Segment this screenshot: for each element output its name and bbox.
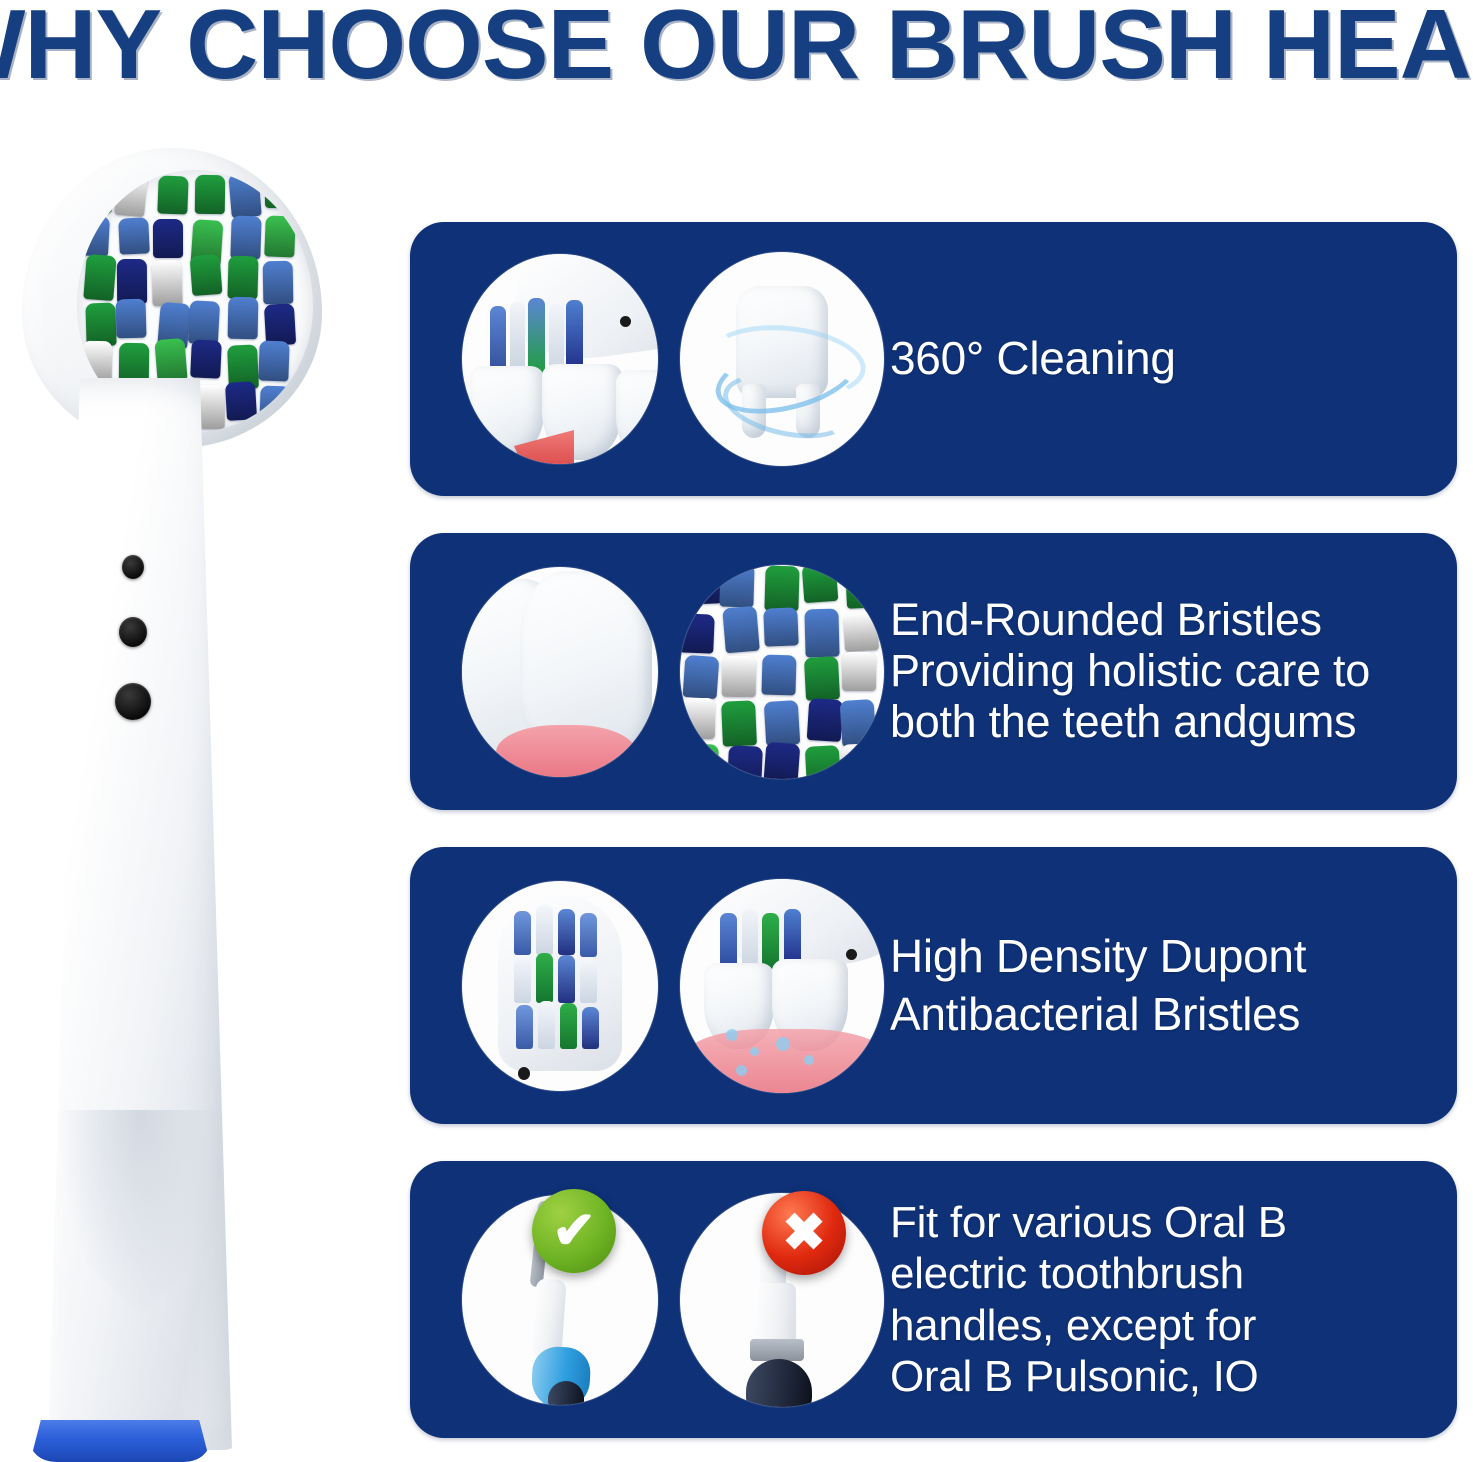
bristle-tuft xyxy=(115,298,146,337)
card-line: 360° Cleaning xyxy=(890,333,1431,385)
bristle-tuft xyxy=(259,386,290,426)
bristle-tuft xyxy=(118,218,150,255)
bristle-tuft xyxy=(686,565,722,605)
card-media-group xyxy=(410,847,890,1124)
bristle-tuft xyxy=(682,654,719,698)
bristle-tuft xyxy=(153,219,183,258)
bristle-tuft xyxy=(805,745,841,778)
handle-dot-large xyxy=(115,683,151,720)
handle-dot-small xyxy=(122,555,144,579)
card-line: End-Rounded Bristles xyxy=(890,595,1431,646)
card-line: electric toothbrush xyxy=(890,1248,1431,1299)
card-line: Fit for various Oral B xyxy=(890,1197,1431,1248)
feature-card-compatibility[interactable]: ✔ ✖ Fit for various Oral B electric toot… xyxy=(410,1161,1457,1438)
feature-card-360-cleaning[interactable]: 360° Cleaning xyxy=(410,222,1457,496)
bristle-tuft xyxy=(804,609,839,657)
card-media-group xyxy=(410,533,890,810)
bristle-tuft xyxy=(842,612,878,652)
card-line: Oral B Pulsonic, IO xyxy=(890,1351,1431,1402)
bristle-tuft xyxy=(151,260,182,306)
card-text-end-rounded-bristles: End-Rounded Bristles Providing holistic … xyxy=(890,595,1457,748)
handle-base-ring xyxy=(30,1420,210,1462)
bristle-tuft xyxy=(263,303,295,345)
bristle-tuft xyxy=(195,175,225,214)
brush-on-teeth-photo xyxy=(462,254,658,464)
card-line: Antibacterial Bristles xyxy=(890,986,1431,1044)
bristle-tuft xyxy=(86,303,117,347)
bristle-tuft xyxy=(763,607,799,647)
bristle-tuft xyxy=(681,698,715,739)
bristle-tuft xyxy=(258,340,289,381)
bristle-tuft xyxy=(683,744,719,779)
bristle-tuft xyxy=(230,216,261,260)
card-line: handles, except for xyxy=(890,1300,1431,1351)
bristle-tuft xyxy=(264,215,296,257)
bristle-tuft xyxy=(263,261,294,305)
bristle-tuft xyxy=(722,656,756,697)
card-line: both the teeth andgums xyxy=(890,697,1431,748)
brush-cleaning-teeth-photo xyxy=(680,879,884,1093)
bristle-tuft xyxy=(842,652,876,691)
feature-card-list: 360° Cleaning End-Rounded Bristles Provi… xyxy=(410,222,1457,1438)
bristle-tuft xyxy=(83,254,116,301)
feature-card-end-rounded-bristles[interactable]: End-Rounded Bristles Providing holistic … xyxy=(410,533,1457,810)
tooth-360-swirl-photo xyxy=(680,252,884,466)
bristle-tuft xyxy=(807,698,844,742)
bristle-tuft xyxy=(720,565,755,608)
product-image xyxy=(0,130,400,1462)
bristle-tuft xyxy=(114,170,148,217)
bristle-tuft xyxy=(187,300,219,344)
bristle-tuft xyxy=(228,255,259,299)
bristle-tuft xyxy=(78,216,110,257)
bristle-tuft xyxy=(189,254,222,297)
card-text-high-density-dupont: High Density Dupont Antibacterial Bristl… xyxy=(890,928,1457,1043)
bristle-tuft xyxy=(158,175,189,214)
bristle-tuft xyxy=(117,259,147,304)
bristle-tuft xyxy=(764,565,799,611)
card-media-group xyxy=(410,222,890,496)
bristle-tuft xyxy=(801,565,838,604)
bristle-tuft xyxy=(190,339,222,379)
bristle-tuft xyxy=(840,699,877,747)
compatible-check-icon: ✔ xyxy=(532,1189,616,1273)
bristle-tuft xyxy=(155,338,188,383)
card-text-compatibility: Fit for various Oral B electric toothbru… xyxy=(890,1197,1457,1403)
tooth-gum-closeup-photo xyxy=(462,567,658,777)
card-line: Providing holistic care to xyxy=(890,646,1431,697)
brush-head-front-photo xyxy=(462,881,658,1091)
card-text-360-cleaning: 360° Cleaning xyxy=(890,333,1457,385)
bristle-tuft xyxy=(845,565,881,609)
bristle-tuft xyxy=(225,381,257,420)
bristle-tuft xyxy=(727,745,763,778)
feature-card-high-density-dupont[interactable]: High Density Dupont Antibacterial Bristl… xyxy=(410,847,1457,1124)
card-media-group: ✔ ✖ xyxy=(410,1161,890,1438)
bristle-macro-photo xyxy=(680,565,884,779)
bristle-tuft xyxy=(763,742,800,779)
bristle-tuft xyxy=(721,700,757,746)
bristle-tuft xyxy=(764,700,801,746)
bristle-tuft xyxy=(762,655,797,696)
bristle-tuft xyxy=(722,605,760,652)
bristle-tuft xyxy=(265,170,295,208)
bristle-tuft xyxy=(229,172,262,218)
bristle-tuft xyxy=(841,743,877,778)
incompatible-cross-icon: ✖ xyxy=(762,1191,846,1275)
bristle-tuft xyxy=(804,656,840,701)
handle-dot-medium xyxy=(119,617,147,647)
card-line: High Density Dupont xyxy=(890,928,1431,986)
bristle-tuft xyxy=(680,613,715,654)
bristle-tuft xyxy=(81,341,112,382)
bristle-tuft xyxy=(228,297,259,339)
page-title: WHY CHOOSE OUR BRUSH HEAD xyxy=(0,0,1473,97)
bristle-tuft xyxy=(80,172,112,215)
